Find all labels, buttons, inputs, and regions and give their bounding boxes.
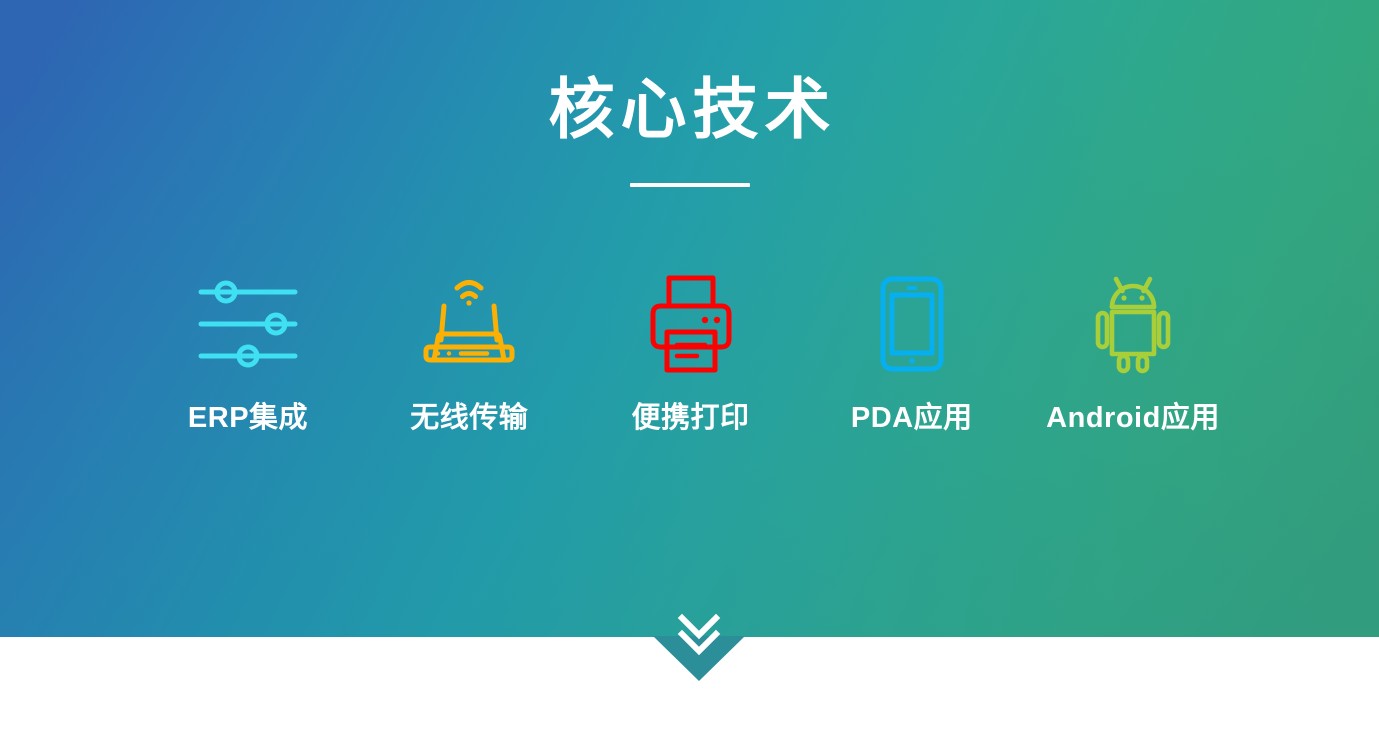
feature-item-android[interactable]: Android应用 [1023, 272, 1243, 433]
feature-item-pda[interactable]: PDA应用 [802, 272, 1022, 433]
feature-item-erp[interactable]: ERP集成 [138, 272, 358, 433]
page-title: 核心技术 [0, 76, 1379, 142]
feature-label-erp: ERP集成 [188, 404, 308, 433]
feature-label-printer: 便携打印 [631, 404, 749, 433]
feature-label-wireless: 无线传输 [410, 404, 528, 433]
wireless-router-icon [421, 272, 517, 376]
android-robot-icon [1095, 272, 1171, 376]
tablet-icon [879, 272, 945, 376]
title-divider [630, 183, 750, 187]
feature-item-printer[interactable]: 便携打印 [581, 272, 801, 433]
hero-section: 核心技术 [0, 0, 1379, 637]
double-chevron-down-icon[interactable] [653, 608, 745, 664]
feature-item-wireless[interactable]: 无线传输 [359, 272, 579, 433]
feature-label-pda: PDA应用 [851, 404, 973, 433]
feature-label-android: Android应用 [1046, 404, 1220, 433]
page-root: 核心技术 [0, 0, 1379, 755]
feature-list: ERP集成 [138, 272, 1243, 433]
sliders-icon [197, 272, 299, 376]
hero-content: 核心技术 [0, 0, 1379, 637]
printer-icon [647, 272, 735, 376]
